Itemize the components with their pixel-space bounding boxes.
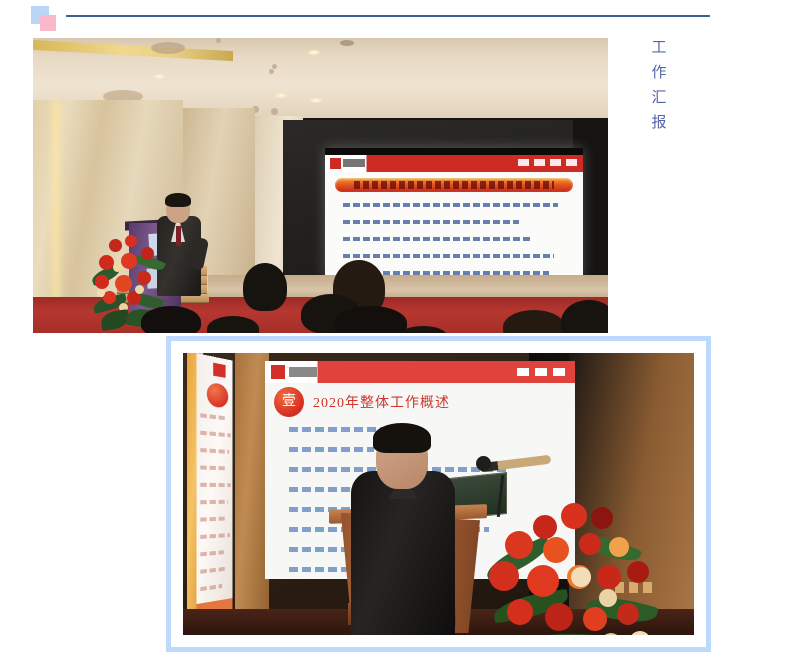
microphone-head <box>476 456 491 471</box>
wall-wood-panel <box>235 353 269 635</box>
flower-bloom <box>109 239 122 252</box>
slide-bullet-item <box>343 237 532 241</box>
flower-arrangement <box>483 503 673 635</box>
flower-bloom-light <box>629 631 651 635</box>
flower-bloom <box>99 255 114 270</box>
slide-section-badge <box>207 382 228 409</box>
slide-title-banner <box>335 178 573 192</box>
page-header-decoration <box>0 0 797 40</box>
flower-bloom <box>579 533 601 555</box>
slide-text-line <box>289 447 374 452</box>
page-title-char-4: 报 <box>651 115 666 132</box>
slide-text-line <box>200 431 230 438</box>
flower-bloom-light <box>113 263 122 272</box>
projection-screen <box>325 148 583 278</box>
slide-text-line <box>200 448 229 454</box>
company-logo-icon <box>271 365 285 379</box>
photo-frame-closeup: 壹 2020年整体工作概述 <box>166 336 711 652</box>
slide-text-line <box>200 500 228 504</box>
slide-text-line <box>200 567 227 574</box>
company-logo-icon <box>330 158 341 169</box>
flower-bloom-light <box>599 589 617 607</box>
flower-bloom <box>583 607 607 631</box>
flower-leaf <box>522 630 611 635</box>
flower-bloom <box>489 561 519 591</box>
flower-bloom <box>507 599 533 625</box>
company-logo-text <box>289 367 317 377</box>
page-title-char-2: 作 <box>651 65 666 82</box>
flower-bloom <box>597 565 621 589</box>
sprinkler-head <box>272 64 277 69</box>
slide-text-line <box>200 584 222 591</box>
slide-bullet-item <box>343 203 558 207</box>
ceiling-vent <box>151 42 185 54</box>
projection-screen-edge <box>197 353 233 631</box>
flower-bloom-dark <box>591 507 613 529</box>
decorative-square-pink <box>40 15 56 31</box>
speaker-hair <box>373 423 431 453</box>
sprinkler-head <box>269 69 274 74</box>
page-title-char-3: 汇 <box>651 90 666 107</box>
flower-bloom <box>125 235 137 247</box>
ceiling-downlight <box>275 93 287 98</box>
company-logo-icon <box>213 363 225 378</box>
flower-bloom-light <box>97 289 105 297</box>
header-divider-rule <box>66 15 710 17</box>
page-title-char-1: 工 <box>651 40 666 57</box>
audience-head <box>141 306 201 333</box>
slide-header-nav <box>518 159 578 166</box>
flower-bloom-light <box>135 285 144 294</box>
audience-head <box>335 306 407 333</box>
slide-text-line <box>200 413 226 420</box>
slide-text-line <box>200 483 231 487</box>
flower-bloom-orange <box>609 537 629 557</box>
flower-bloom <box>505 531 533 559</box>
flower-bloom <box>121 253 137 269</box>
flower-bloom <box>533 515 557 539</box>
flower-bloom-dark <box>627 561 649 583</box>
flower-bloom <box>527 565 559 597</box>
audience-head <box>243 263 287 311</box>
slide-bullet-item <box>343 254 554 258</box>
slide-bullet-item <box>343 220 519 224</box>
sprinkler-head <box>216 38 221 43</box>
slide-text-line <box>200 465 225 470</box>
ceiling-downlight <box>153 74 165 79</box>
ceiling-vent <box>340 40 354 46</box>
slide-header-nav <box>517 368 569 376</box>
flower-bloom-light <box>571 567 591 587</box>
photo-conference-hall-wide <box>33 38 608 333</box>
slide-title-text <box>354 181 554 189</box>
flower-bloom <box>561 503 587 529</box>
flower-bloom <box>115 275 132 292</box>
slide-section-badge: 壹 <box>274 387 304 417</box>
slide-text-line <box>200 550 224 556</box>
ceiling-downlight <box>310 98 322 103</box>
flower-bloom <box>545 603 573 631</box>
flower-bloom <box>95 275 109 289</box>
photo-conference-hall-closeup: 壹 2020年整体工作概述 <box>183 353 694 635</box>
slide-text-line <box>200 517 225 522</box>
speaker-hair <box>165 193 191 207</box>
slide-title-text: 2020年整体工作概述 <box>313 392 450 412</box>
screen-frame-top <box>325 148 583 155</box>
slide-text-line <box>200 533 229 539</box>
ceiling-downlight <box>308 50 320 55</box>
flower-bloom <box>137 271 151 285</box>
flower-bloom <box>617 603 639 625</box>
company-logo-text <box>343 159 365 167</box>
flower-bloom-light <box>601 633 621 635</box>
page-title-vertical: 工 作 汇 报 <box>644 40 674 132</box>
sprinkler-head <box>271 108 278 115</box>
flower-bloom <box>543 537 569 563</box>
speaker-tie <box>176 226 181 246</box>
flower-bloom <box>141 247 154 260</box>
